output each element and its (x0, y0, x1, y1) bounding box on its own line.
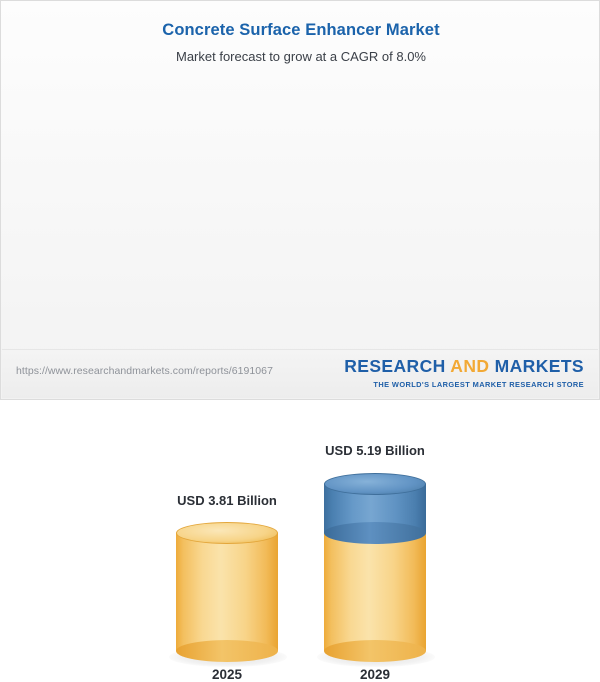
source-url-link[interactable]: https://www.researchandmarkets.com/repor… (16, 365, 273, 377)
bar-bottom-cap-2029 (324, 640, 426, 662)
category-label-2029: 2029 (265, 667, 485, 682)
research-and-markets-logo[interactable]: RESEARCH AND MARKETS THE WORLD'S LARGEST… (344, 358, 584, 389)
logo-word-and: AND (450, 356, 489, 376)
bar-cylinder-2029[interactable] (324, 473, 426, 656)
bar-segment-base-body-2025 (176, 533, 278, 651)
logo-wordmark: RESEARCH AND MARKETS (344, 358, 584, 376)
logo-tagline: THE WORLD'S LARGEST MARKET RESEARCH STOR… (344, 380, 584, 389)
bar-top-cap-2029 (324, 473, 426, 495)
logo-word-research: RESEARCH (344, 356, 445, 376)
bar-chart-plot: USD 3.81 Billion 2025 USD 5.19 Billion (1, 1, 600, 351)
chart-card: Concrete Surface Enhancer Market Market … (0, 0, 600, 400)
bar-bottom-cap-2025 (176, 640, 278, 662)
bar-segment-base-2025 (176, 533, 278, 651)
bar-value-label-2025: USD 3.81 Billion (117, 493, 337, 508)
bar-segment-divider-2029 (324, 522, 426, 544)
bar-segment-base-2029 (324, 533, 426, 651)
bar-segment-base-body-2029 (324, 533, 426, 651)
bar-value-label-2029: USD 5.19 Billion (265, 443, 485, 458)
logo-word-markets: MARKETS (495, 356, 584, 376)
bar-cylinder-2025[interactable] (176, 522, 278, 656)
bar-top-cap-2025 (176, 522, 278, 544)
chart-footer: https://www.researchandmarkets.com/repor… (2, 349, 598, 398)
